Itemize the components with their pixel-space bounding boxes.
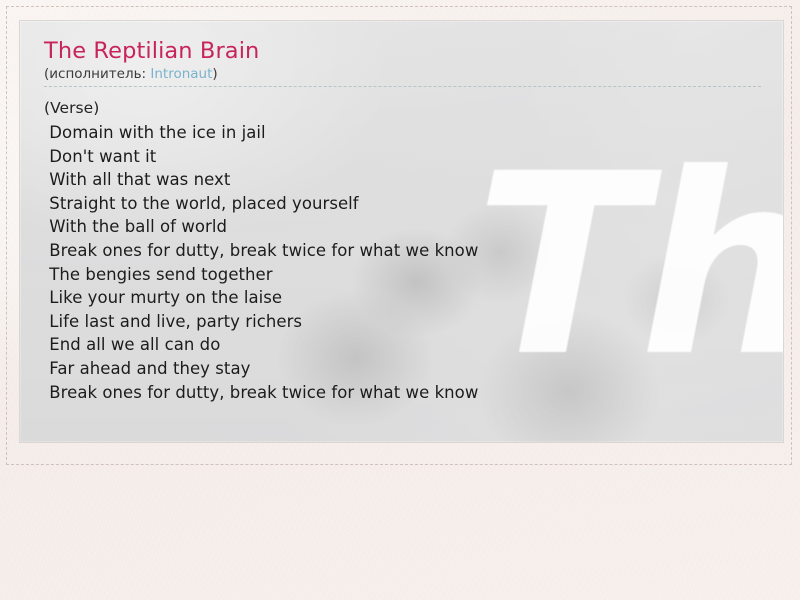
artist-prefix-label: (исполнитель:: [44, 66, 150, 82]
song-header: The Reptilian Brain (исполнитель: Intron…: [44, 39, 761, 87]
lyric-line: With all that was next: [44, 168, 761, 192]
page-title: The Reptilian Brain: [44, 39, 761, 64]
lyrics-card: The The Reptilian Brain (исполнитель: In…: [19, 20, 784, 443]
lyric-line: Don't want it: [44, 145, 761, 169]
artist-suffix-label: ): [212, 66, 217, 82]
lyric-line: Break ones for dutty, break twice for wh…: [44, 239, 761, 263]
lyric-line: With the ball of world: [44, 215, 761, 239]
lyric-line: Life last and live, party richers: [44, 310, 761, 334]
card-content: The Reptilian Brain (исполнитель: Intron…: [20, 21, 783, 404]
lyric-line: The bengies send together: [44, 263, 761, 287]
artist-line: (исполнитель: Intronaut): [44, 66, 761, 82]
lyric-line: Like your murty on the laise: [44, 286, 761, 310]
lyric-line: Break ones for dutty, break twice for wh…: [44, 381, 761, 405]
lyric-line: Straight to the world, placed yourself: [44, 192, 761, 216]
artist-link[interactable]: Intronaut: [150, 66, 212, 82]
lyrics-text-block: (Verse) Domain with the ice in jail Don'…: [44, 97, 761, 404]
lyric-line: Domain with the ice in jail: [44, 121, 761, 145]
lyric-line: End all we all can do: [44, 333, 761, 357]
lyric-line: (Verse): [44, 97, 761, 121]
lyric-line: Far ahead and they stay: [44, 357, 761, 381]
